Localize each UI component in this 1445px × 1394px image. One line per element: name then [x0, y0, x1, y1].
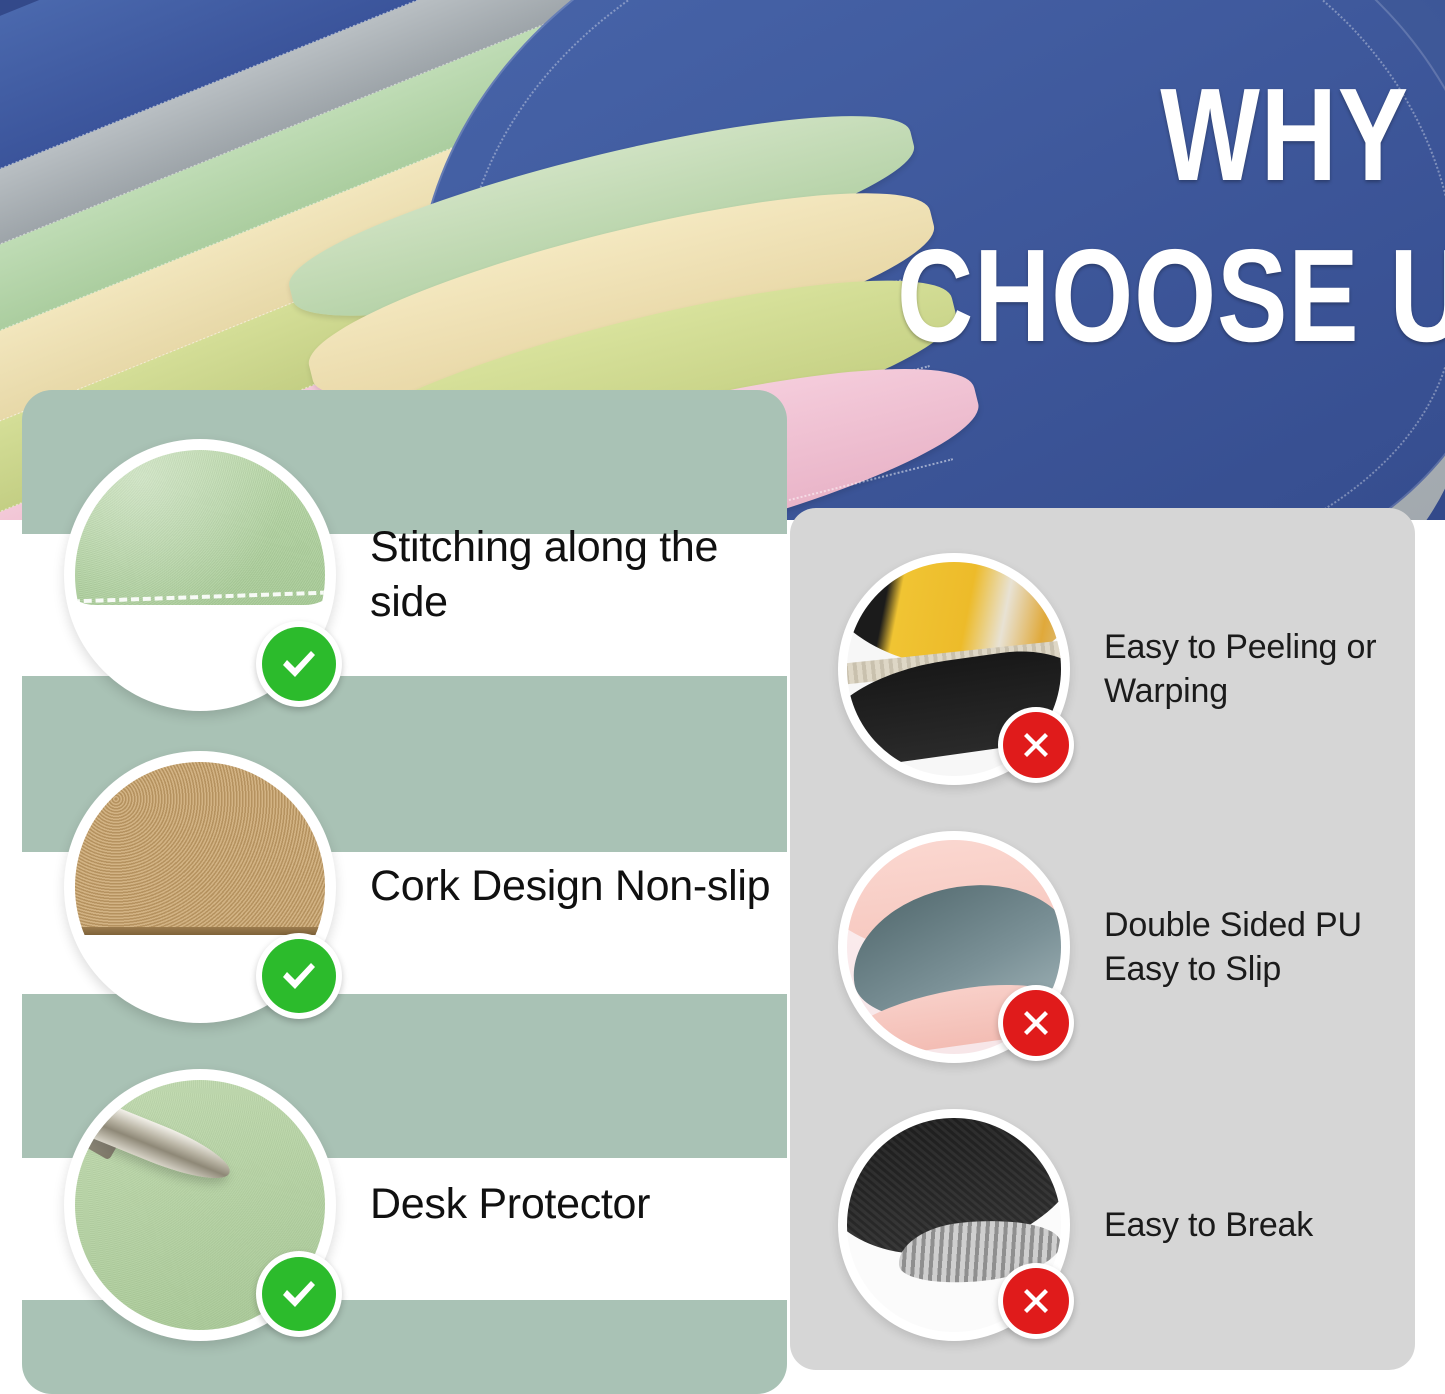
advantage-label: Cork Design Non-slip [370, 859, 770, 914]
check-badge [256, 1251, 342, 1337]
cross-icon [1003, 990, 1069, 1056]
advantage-thumbnail [64, 439, 336, 711]
check-icon [262, 939, 336, 1013]
cross-badge [998, 985, 1074, 1061]
cross-badge [998, 1263, 1074, 1339]
advantages-panel: Stitching along the side Cork Desig [22, 390, 787, 1394]
check-icon [262, 1257, 336, 1331]
disadvantage-item: Easy to Break [790, 1086, 1415, 1364]
headline-line-2: CHOOSE US [897, 233, 1409, 358]
disadvantage-thumbnail [838, 1109, 1070, 1341]
cross-badge [998, 707, 1074, 783]
disadvantage-label: Double Sided PU Easy to Slip [1104, 903, 1415, 991]
check-badge [256, 621, 342, 707]
check-icon [262, 627, 336, 701]
disadvantage-thumbnail [838, 553, 1070, 785]
infographic-root: WHY CHOOSE US Easy [0, 0, 1445, 1394]
disadvantage-item: Double Sided PU Easy to Slip [790, 808, 1415, 1086]
disadvantage-thumbnail [838, 831, 1070, 1063]
headline: WHY CHOOSE US [769, 72, 1409, 359]
headline-line-1: WHY [897, 72, 1409, 197]
disadvantage-label: Easy to Break [1104, 1203, 1313, 1247]
advantage-item: Stitching along the side [22, 420, 787, 730]
disadvantages-panel: Easy to Peeling or Warping Double S [790, 508, 1415, 1370]
cross-icon [1003, 712, 1069, 778]
advantage-item: Cork Design Non-slip [22, 732, 787, 1042]
disadvantage-label: Easy to Peeling or Warping [1104, 625, 1415, 713]
advantage-thumbnail [64, 751, 336, 1023]
check-badge [256, 933, 342, 1019]
advantage-label: Desk Protector [370, 1177, 650, 1232]
cross-icon [1003, 1268, 1069, 1334]
advantage-item: Desk Protector [22, 1050, 787, 1360]
advantage-label: Stitching along the side [370, 520, 787, 630]
advantage-thumbnail [64, 1069, 336, 1341]
disadvantage-item: Easy to Peeling or Warping [790, 530, 1415, 808]
